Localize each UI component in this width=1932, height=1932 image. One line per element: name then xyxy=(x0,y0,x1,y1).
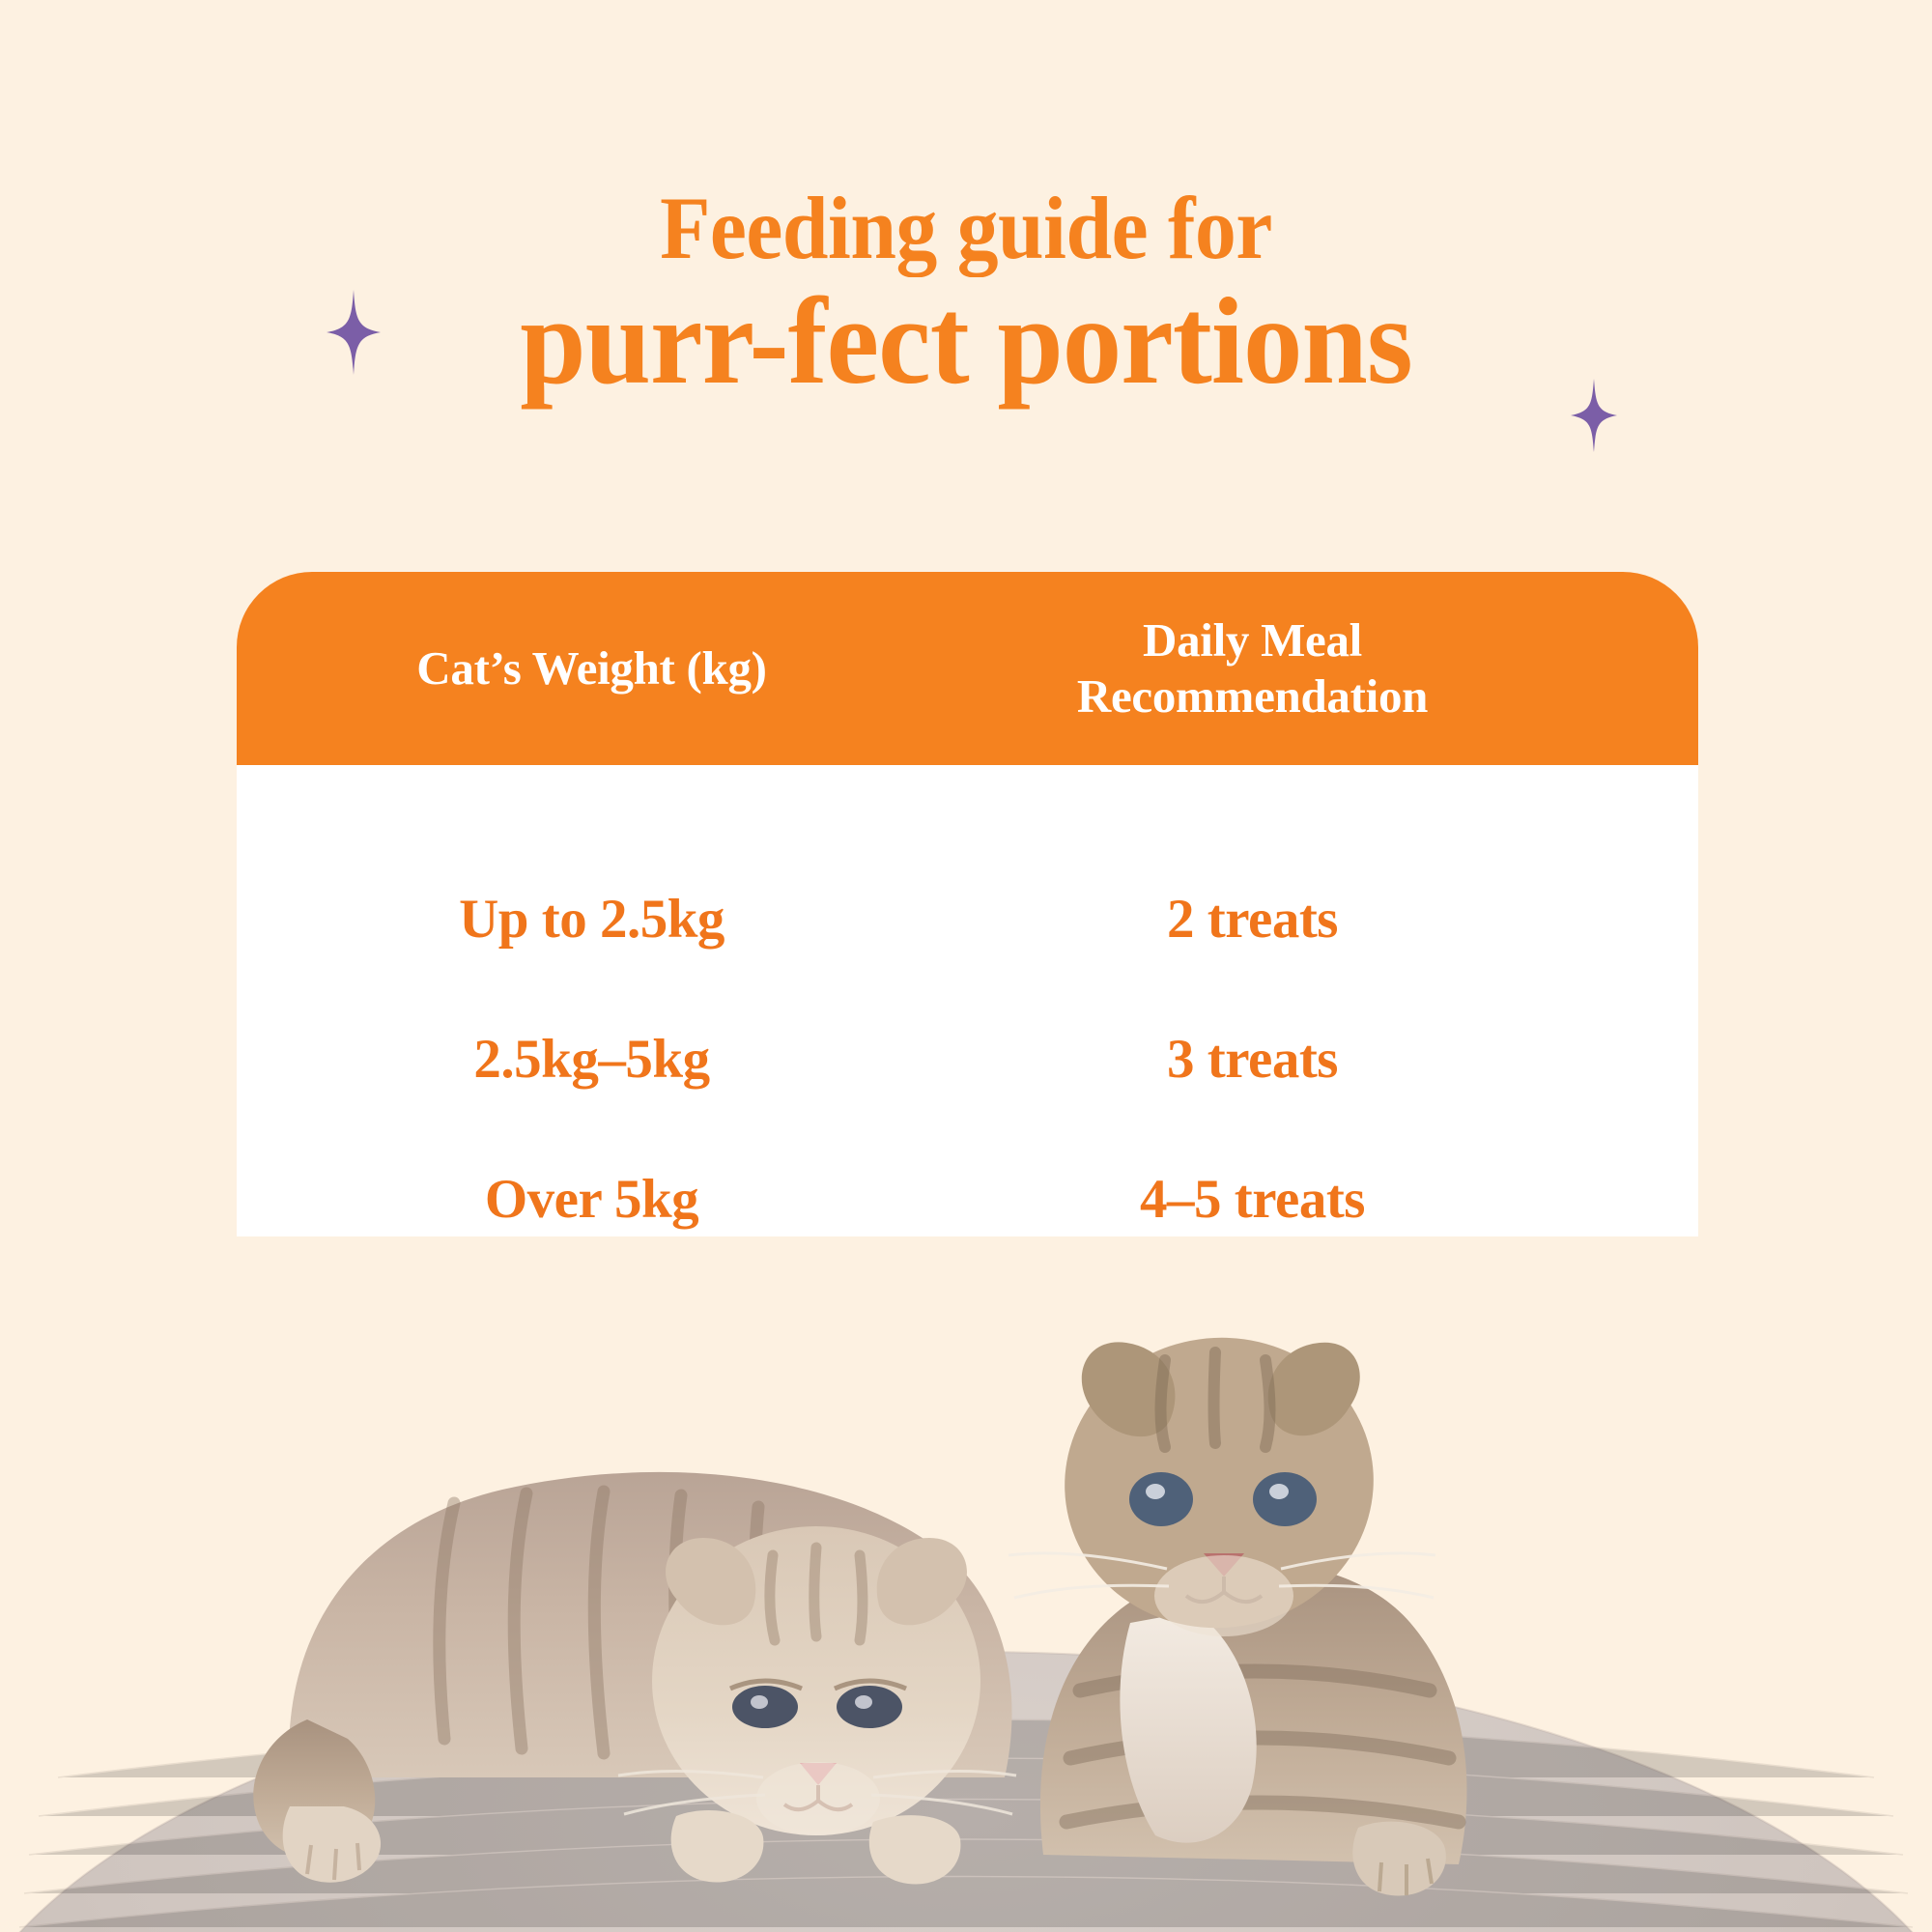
table-header-daily-meal-line2: Recommendation xyxy=(913,668,1592,724)
cell-meal: 3 treats xyxy=(913,1030,1698,1091)
table-header-daily-meal-line1: Daily Meal xyxy=(913,612,1592,668)
cell-weight: Up to 2.5kg xyxy=(237,890,913,951)
table-row: 2.5kg–5kg 3 treats xyxy=(237,990,1698,1130)
table-header-daily-meal: Daily Meal Recommendation xyxy=(913,612,1698,724)
page-heading: Feeding guide for purr-fect portions xyxy=(0,184,1932,406)
cell-meal: 2 treats xyxy=(913,890,1698,951)
heading-line-1: Feeding guide for xyxy=(68,184,1864,272)
cell-weight: 2.5kg–5kg xyxy=(237,1030,913,1091)
cell-weight: Over 5kg xyxy=(237,1170,913,1231)
table-row: Up to 2.5kg 2 treats xyxy=(237,850,1698,990)
cell-meal: 4–5 treats xyxy=(913,1170,1698,1231)
sparkle-star-icon xyxy=(327,290,381,375)
two-kittens-on-cushion-photo xyxy=(0,1236,1932,1932)
table-header-row: Cat’s Weight (kg) Daily Meal Recommendat… xyxy=(237,572,1698,765)
sparkle-star-icon xyxy=(1571,379,1617,452)
table-header-cat-weight: Cat’s Weight (kg) xyxy=(237,640,913,696)
